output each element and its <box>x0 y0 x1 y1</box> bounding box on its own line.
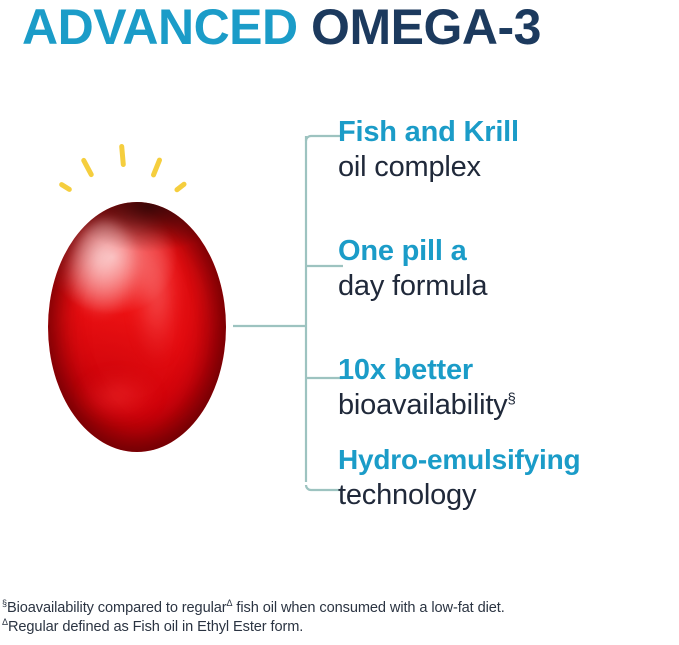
sparkle-dash <box>119 144 126 167</box>
feature-list: Fish and Krill oil complex One pill a da… <box>338 0 679 645</box>
sparkle-dash <box>58 181 73 193</box>
footnotes: §Bioavailability compared to regularΔ fi… <box>2 599 677 637</box>
feature-subline-text: bioavailability <box>338 389 508 421</box>
infographic-page: ADVANCED OMEGA-3 <box>0 0 679 645</box>
feature-headline: Hydro-emulsifying <box>338 443 679 477</box>
product-image <box>36 130 266 460</box>
capsule-gloss-highlight <box>132 236 182 386</box>
feature-subline: day formula <box>338 268 679 304</box>
footnote-text-before: Regular defined as Fish oil in Ethyl Est… <box>8 619 303 635</box>
feature-subline: oil complex <box>338 149 679 185</box>
feature-item-hydro-emulsifying: Hydro-emulsifying technology <box>338 443 679 513</box>
feature-subline-text: day formula <box>338 270 487 302</box>
feature-footnote-marker: § <box>508 390 516 407</box>
title-word-advanced: ADVANCED <box>22 0 298 55</box>
feature-item-one-pill-a-day: One pill a day formula <box>338 234 679 304</box>
feature-subline-text: technology <box>338 479 476 511</box>
feature-subline-text: oil complex <box>338 151 481 183</box>
bracket-lines-icon <box>233 128 343 500</box>
footnote-bioavailability: §Bioavailability compared to regularΔ fi… <box>2 599 677 618</box>
feature-headline: One pill a <box>338 234 679 268</box>
softgel-capsule <box>48 202 226 452</box>
feature-item-fish-and-krill: Fish and Krill oil complex <box>338 115 679 185</box>
feature-headline: Fish and Krill <box>338 115 679 149</box>
feature-item-bioavailability: 10x better bioavailability§ <box>338 353 679 423</box>
footnote-text-before: Bioavailability compared to regular <box>7 600 227 616</box>
feature-subline: technology <box>338 477 679 513</box>
sparkle-dash <box>150 157 163 178</box>
footnote-regular-definition: ΔRegular defined as Fish oil in Ethyl Es… <box>2 618 677 637</box>
bracket-connector <box>233 128 343 500</box>
sparkle-dash <box>80 157 94 178</box>
sparkle-dash <box>173 181 187 194</box>
capsule-lower-sheen <box>78 370 164 426</box>
feature-subline: bioavailability§ <box>338 387 679 423</box>
footnote-text-after: fish oil when consumed with a low-fat di… <box>232 600 504 616</box>
feature-headline: 10x better <box>338 353 679 387</box>
sparkle-icon <box>36 130 266 210</box>
